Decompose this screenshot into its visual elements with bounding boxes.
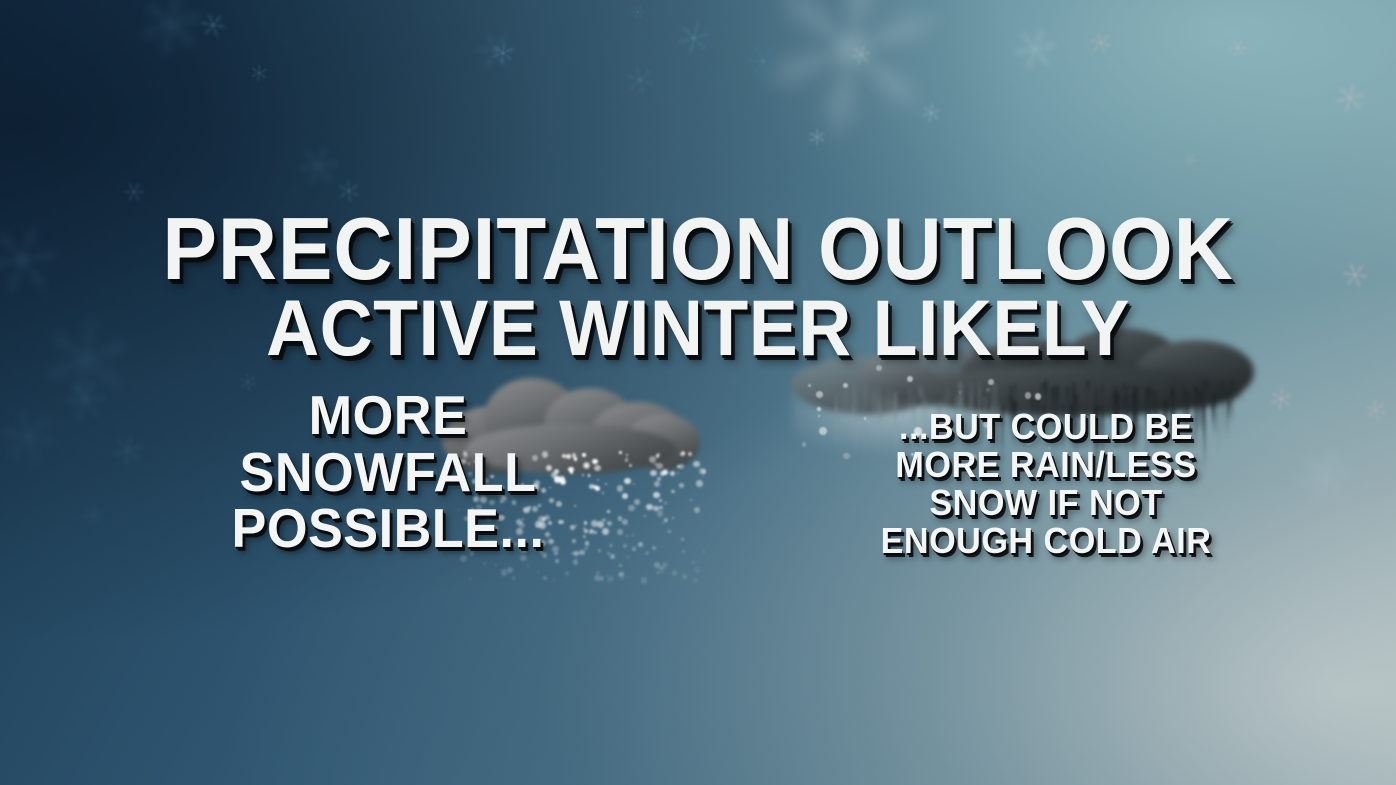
caption-more-rain-less-snow: ...BUT COULD BE MORE RAIN/LESS SNOW IF N…: [837, 408, 1255, 561]
caption-right-line-4: ENOUGH COLD AIR: [837, 522, 1255, 560]
caption-left-line-3: POSSIBLE...: [200, 500, 576, 557]
caption-right-line-3: SNOW IF NOT: [837, 484, 1255, 522]
caption-left-line-2: SNOWFALL: [200, 444, 576, 501]
caption-left-line-1: MORE: [200, 387, 576, 444]
weather-graphic-stage: PRECIPITATION OUTLOOK ACTIVE WINTER LIKE…: [0, 0, 1396, 785]
caption-right-line-1: ...BUT COULD BE: [837, 408, 1255, 446]
page-title-line-1: PRECIPITATION OUTLOOK: [49, 205, 1347, 293]
text-layer: PRECIPITATION OUTLOOK ACTIVE WINTER LIKE…: [0, 0, 1396, 785]
caption-more-snowfall-possible: MORE SNOWFALL POSSIBLE...: [200, 387, 576, 557]
page-title-line-2: ACTIVE WINTER LIKELY: [49, 288, 1347, 367]
caption-right-line-2: MORE RAIN/LESS: [837, 446, 1255, 484]
